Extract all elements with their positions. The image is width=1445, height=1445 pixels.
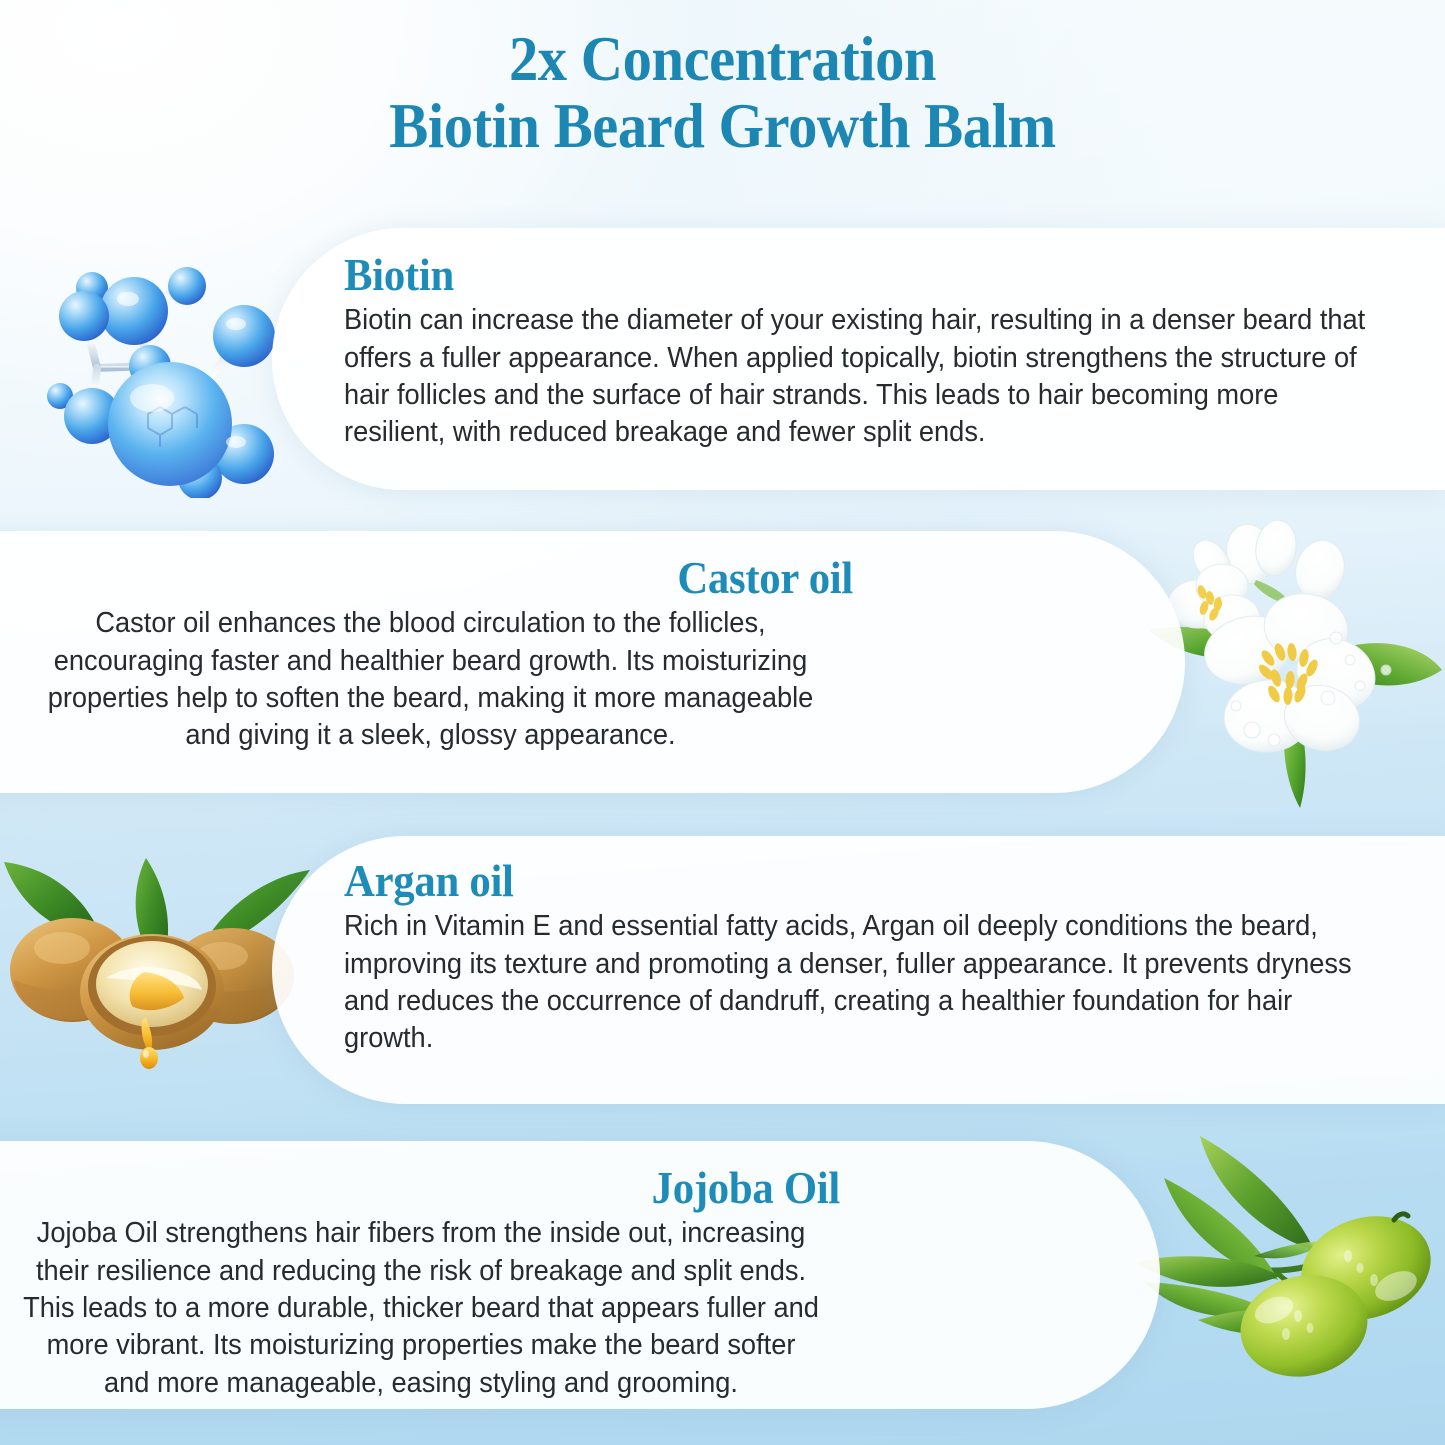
section-body-biotin: Biotin can increase the diameter of your… xyxy=(344,302,1371,451)
title-line-2: Biotin Beard Growth Balm xyxy=(51,93,1395,160)
ingredient-card-jojoba: Jojoba Oil Jojoba Oil strengthens hair f… xyxy=(0,1141,1160,1409)
argan-nut-icon xyxy=(0,842,316,1110)
section-body-jojoba: Jojoba Oil strengthens hair fibers from … xyxy=(21,1215,821,1402)
page-title: 2x Concentration Biotin Beard Growth Bal… xyxy=(0,26,1445,160)
infographic-page: 2x Concentration Biotin Beard Growth Bal… xyxy=(0,0,1445,1445)
olive-branch-icon xyxy=(1128,1128,1445,1430)
section-body-argan: Rich in Vitamin E and essential fatty ac… xyxy=(344,908,1356,1057)
molecule-icon xyxy=(22,216,314,498)
ingredient-card-castor: Castor oil Castor oil enhances the blood… xyxy=(0,531,1185,793)
ingredient-card-argan: Argan oil Rich in Vitamin E and essentia… xyxy=(272,836,1445,1104)
jasmine-flower-icon xyxy=(1140,518,1445,814)
section-heading-biotin: Biotin xyxy=(344,250,1365,300)
section-heading-argan: Argan oil xyxy=(344,856,1351,906)
section-body-castor: Castor oil enhances the blood circulatio… xyxy=(27,605,834,754)
title-line-1: 2x Concentration xyxy=(51,26,1395,93)
ingredient-card-biotin: Biotin Biotin can increase the diameter … xyxy=(272,228,1445,490)
section-heading-castor: Castor oil xyxy=(50,553,853,603)
section-heading-jojoba: Jojoba Oil xyxy=(44,1163,840,1213)
